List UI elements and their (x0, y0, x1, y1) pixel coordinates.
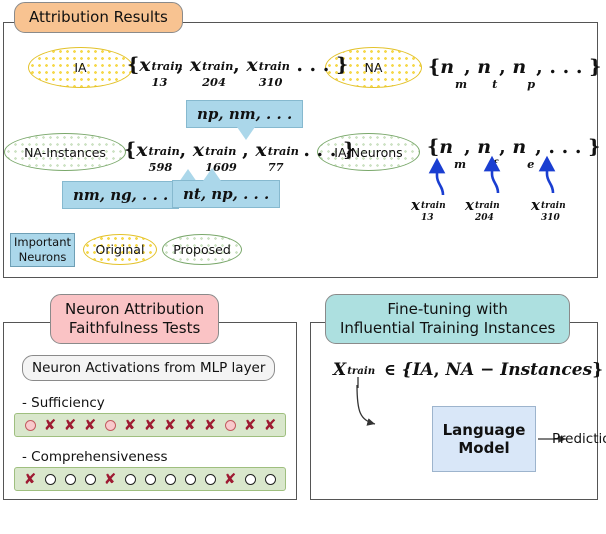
callout-nt-np: nt, np, . . . (172, 180, 280, 208)
token-circle-white-icon (43, 472, 58, 487)
legend-important-neurons-label: Important Neurons (11, 235, 74, 265)
attribution-results-title: Attribution Results (14, 2, 183, 33)
neuron-source-x310: xtrain310 (531, 196, 568, 214)
callout-tail-icon (203, 168, 221, 181)
set-ia-train-instances: {xtrain13, xtrain204, xtrain310 . . . } (127, 54, 348, 76)
token-cross-icon (203, 418, 218, 433)
callout-nm-ng-text: nm, ng, . . . (73, 186, 168, 204)
set-na-instances-train: {xtrain598, xtrain1609, xtrain77 . . . } (124, 139, 355, 161)
comprehensiveness-label: - Comprehensiveness (22, 449, 168, 465)
callout-nt-np-text: nt, np, . . . (183, 185, 269, 203)
token-cross-icon (123, 418, 138, 433)
legend-proposed: Proposed (162, 234, 242, 265)
neuron-source-x204: xtrain204 (465, 196, 502, 214)
legend-original: Original (83, 234, 157, 265)
token-circle-white-icon (123, 472, 138, 487)
faithfulness-title-line2: Faithfulness Tests (65, 319, 204, 338)
token-circle-white-icon (83, 472, 98, 487)
token-cross-icon (183, 418, 198, 433)
token-cross-icon (63, 418, 78, 433)
callout-nm-ng: nm, ng, . . . (62, 181, 179, 209)
ellipse-ia: IA (28, 47, 133, 88)
token-circle-white-icon (163, 472, 178, 487)
neuron-source-x13: xtrain13 (411, 196, 446, 214)
set-na-neurons: {nm, nt, np, . . . } (428, 56, 601, 78)
language-model-line2: Model (443, 439, 526, 457)
finetuning-title-line2: Influential Training Instances (340, 319, 555, 338)
legend-proposed-label: Proposed (173, 242, 231, 257)
ellipse-na-label: NA (365, 60, 383, 75)
token-cross-icon (43, 418, 58, 433)
token-circle-white-icon (183, 472, 198, 487)
callout-tail-icon (237, 127, 255, 140)
comprehensiveness-token-strip (14, 467, 286, 491)
language-model-line1: Language (443, 421, 526, 439)
token-cross-icon (83, 418, 98, 433)
token-circle-pink-icon (23, 418, 38, 433)
callout-np-nm: np, nm, . . . (186, 100, 303, 128)
token-cross-icon (143, 418, 158, 433)
xtrain-membership-equation: Xtrain ∈ {IA, NA − Instances} (333, 360, 603, 380)
sufficiency-token-strip (14, 413, 286, 437)
legend-important-neurons: Important Neurons (10, 233, 75, 267)
ellipse-na-instances-label: NA-Instances (24, 145, 106, 160)
token-circle-pink-icon (223, 418, 238, 433)
set-ia-neurons: {nm, nf, ne, . . . } (427, 136, 600, 158)
prediction-label: Prediction (552, 431, 606, 447)
finetuning-title-line1: Fine-tuning with (340, 300, 555, 319)
token-circle-white-icon (263, 472, 278, 487)
token-circle-white-icon (243, 472, 258, 487)
token-cross-icon (243, 418, 258, 433)
ellipse-ia-label: IA (74, 60, 86, 75)
language-model-box: Language Model (432, 406, 536, 472)
token-circle-white-icon (203, 472, 218, 487)
faithfulness-title-line1: Neuron Attribution (65, 300, 204, 319)
finetuning-title: Fine-tuning with Influential Training In… (325, 294, 570, 344)
legend-original-label: Original (96, 242, 145, 257)
faithfulness-tests-title: Neuron Attribution Faithfulness Tests (50, 294, 219, 344)
token-circle-white-icon (143, 472, 158, 487)
token-cross-icon (223, 472, 238, 487)
callout-np-nm-text: np, nm, . . . (197, 105, 292, 123)
token-cross-icon (23, 472, 38, 487)
token-cross-icon (103, 472, 118, 487)
token-circle-pink-icon (103, 418, 118, 433)
token-cross-icon (263, 418, 278, 433)
sufficiency-label: - Sufficiency (22, 395, 105, 411)
neuron-activations-pill: Neuron Activations from MLP layer (22, 355, 275, 381)
ellipse-na-instances: NA-Instances (4, 133, 126, 171)
token-circle-white-icon (63, 472, 78, 487)
token-cross-icon (163, 418, 178, 433)
